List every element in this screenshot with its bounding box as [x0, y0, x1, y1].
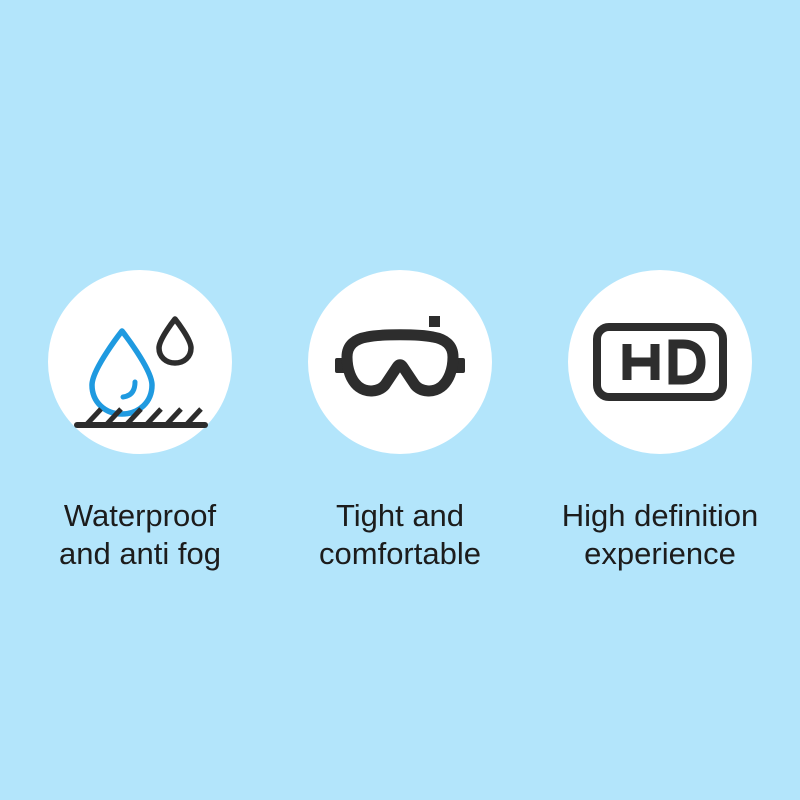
hd-badge-icon — [585, 287, 735, 437]
feature-item-comfort: Tight and comfortable — [270, 270, 530, 573]
feature-item-hd: High definition experience — [530, 270, 790, 573]
icon-circle-hd — [568, 270, 752, 454]
features-row: Waterproof and anti fog Tight and comfor… — [0, 270, 800, 573]
icon-circle-comfort — [308, 270, 492, 454]
feature-label-waterproof: Waterproof and anti fog — [59, 497, 221, 573]
feature-board: Waterproof and anti fog Tight and comfor… — [0, 0, 800, 800]
icon-circle-waterproof — [48, 270, 232, 454]
feature-label-comfort: Tight and comfortable — [319, 497, 481, 573]
feature-item-waterproof: Waterproof and anti fog — [10, 270, 270, 573]
waterproof-drop-icon — [65, 287, 215, 437]
swim-goggles-icon — [325, 287, 475, 437]
feature-label-hd: High definition experience — [562, 497, 758, 573]
